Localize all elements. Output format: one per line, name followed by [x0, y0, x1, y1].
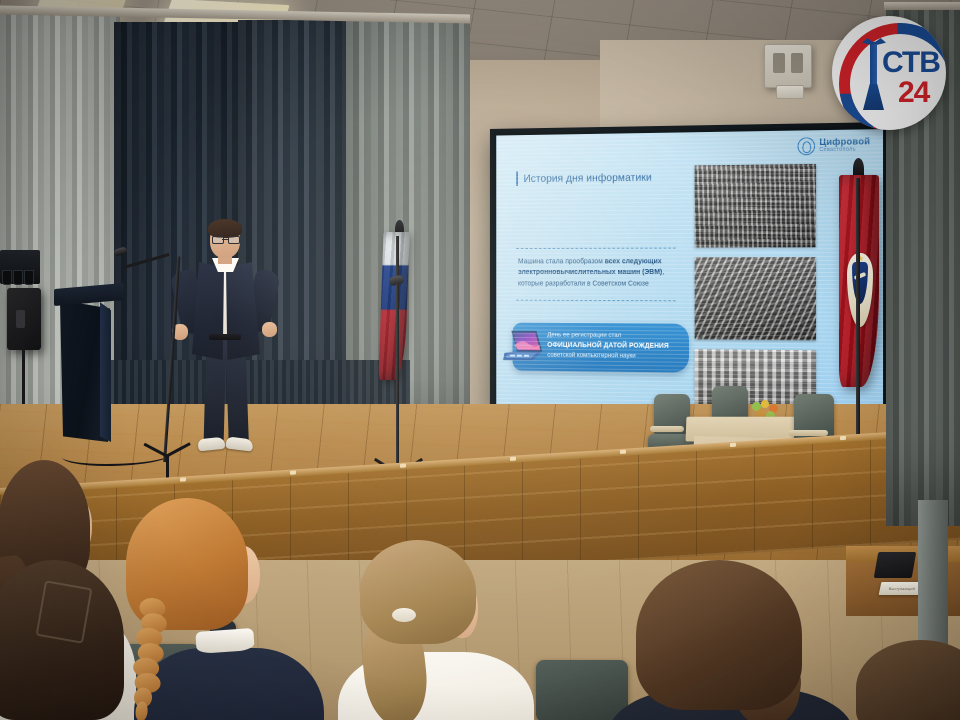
- presenter-hand-right: [262, 322, 277, 337]
- ac-tray: [776, 85, 804, 99]
- logo-number: 24: [898, 78, 929, 108]
- slide-photo-2: [695, 257, 816, 340]
- slide-callout: День ее регистрации стал ОФИЦИАЛЬНОЙ ДАТ…: [513, 323, 689, 373]
- curtain-rail-right: [884, 2, 960, 10]
- divider-top: [516, 248, 675, 249]
- presenter-belt: [209, 334, 241, 340]
- callout-line-3: советской компьютерной науки: [547, 351, 681, 362]
- title-accent-bar: [516, 172, 518, 186]
- logo-letters: СТВ: [882, 48, 940, 78]
- stage-light-rig: [0, 250, 40, 284]
- nameplate-text: Выступающий: [889, 587, 916, 591]
- audience-member-6: [856, 640, 960, 720]
- audience-member-4: [330, 540, 540, 720]
- slide-brand-line1: Цифровой: [819, 137, 870, 147]
- ac-vent-right: [791, 53, 803, 73]
- slide-title: История дня информатики: [523, 171, 651, 184]
- mic-stand-center: [396, 284, 399, 480]
- ac-vent-left: [773, 53, 785, 73]
- slide-body-lead: Машина стала прообразом: [518, 256, 605, 265]
- slide-photo-1: [695, 164, 816, 248]
- presenter: [170, 222, 290, 452]
- photo-scene: Цифровой Севастополь История дня информа…: [0, 0, 960, 720]
- audience-member-5: [616, 560, 846, 720]
- audience-member-2: [0, 560, 134, 720]
- divider-bottom: [516, 300, 675, 302]
- slide-title-group: История дня информатики: [516, 170, 652, 186]
- ctv-24-logo: СТВ 24: [832, 16, 946, 130]
- presenter-shoe-right: [225, 436, 253, 451]
- audience-member-3: [110, 498, 310, 720]
- sevastopol-flag-pole: [856, 178, 860, 438]
- presentation-screen[interactable]: Цифровой Севастополь История дня информа…: [490, 122, 890, 420]
- slide-surface: Цифровой Севастополь История дня информа…: [496, 129, 883, 413]
- presenter-shoe-left: [197, 437, 225, 452]
- slide-brand-logo: Цифровой Севастополь: [798, 136, 870, 155]
- fingerprint-icon: [798, 137, 816, 155]
- presenter-jacket-left: [192, 262, 224, 360]
- podium: [60, 286, 118, 444]
- laptop-icon: [502, 326, 544, 365]
- slide-body-text: Машина стала прообразом всех следующих э…: [518, 255, 683, 288]
- callout-text: День ее регистрации стал ОФИЦИАЛЬНОЙ ДАТ…: [547, 331, 681, 363]
- glasses-icon: [212, 236, 239, 242]
- monument-icon: [862, 30, 884, 108]
- slide-brand-line2: Севастополь: [819, 148, 870, 154]
- pa-speaker-icon: [7, 288, 41, 350]
- back-monitor: [874, 552, 917, 578]
- audience-chair-3: [536, 660, 628, 720]
- air-conditioner-icon: [764, 44, 812, 88]
